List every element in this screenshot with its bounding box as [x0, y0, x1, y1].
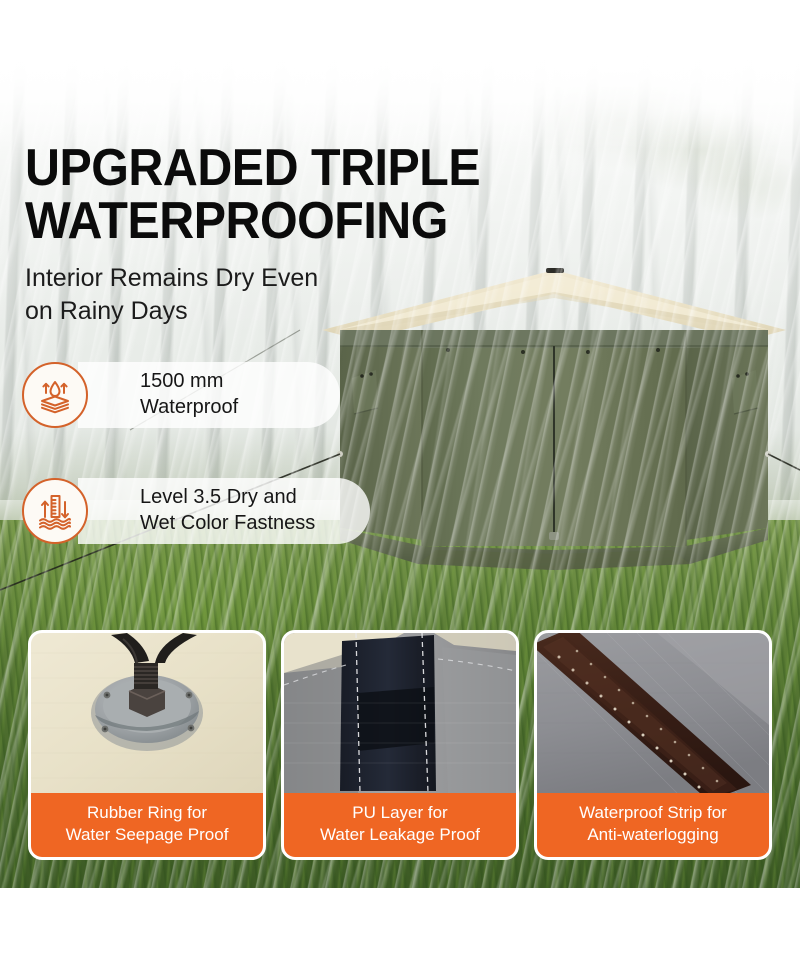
detail-card: Waterproof Strip for Anti-waterlogging [534, 630, 772, 860]
feature-pill: Level 3.5 Dry and Wet Color Fastness [78, 478, 370, 544]
page-subtitle: Interior Remains Dry Even on Rainy Days [25, 262, 425, 328]
pu-layer-seam-photo [284, 633, 516, 793]
detail-card: PU Layer for Water Leakage Proof [281, 630, 519, 860]
card-caption: Waterproof Strip for Anti-waterlogging [537, 793, 769, 857]
waterproof-strip-photo [537, 633, 769, 793]
color-fastness-icon [22, 478, 88, 544]
rubber-ring-grommet-photo [31, 633, 263, 793]
card-caption: PU Layer for Water Leakage Proof [284, 793, 516, 857]
detail-card: Rubber Ring for Water Seepage Proof [28, 630, 266, 860]
feature-label: Level 3.5 Dry and Wet Color Fastness [140, 485, 315, 536]
product-feature-poster: UPGRADED TRIPLE WATERPROOFING Interior R… [0, 0, 800, 977]
detail-cards-row: Rubber Ring for Water Seepage Proof [28, 630, 772, 860]
page-title: UPGRADED TRIPLE WATERPROOFING [25, 142, 509, 248]
card-caption: Rubber Ring for Water Seepage Proof [31, 793, 263, 857]
feature-label: 1500 mm Waterproof [140, 369, 238, 420]
waterproof-layers-icon [22, 362, 88, 428]
feature-pill: 1500 mm Waterproof [78, 362, 340, 428]
